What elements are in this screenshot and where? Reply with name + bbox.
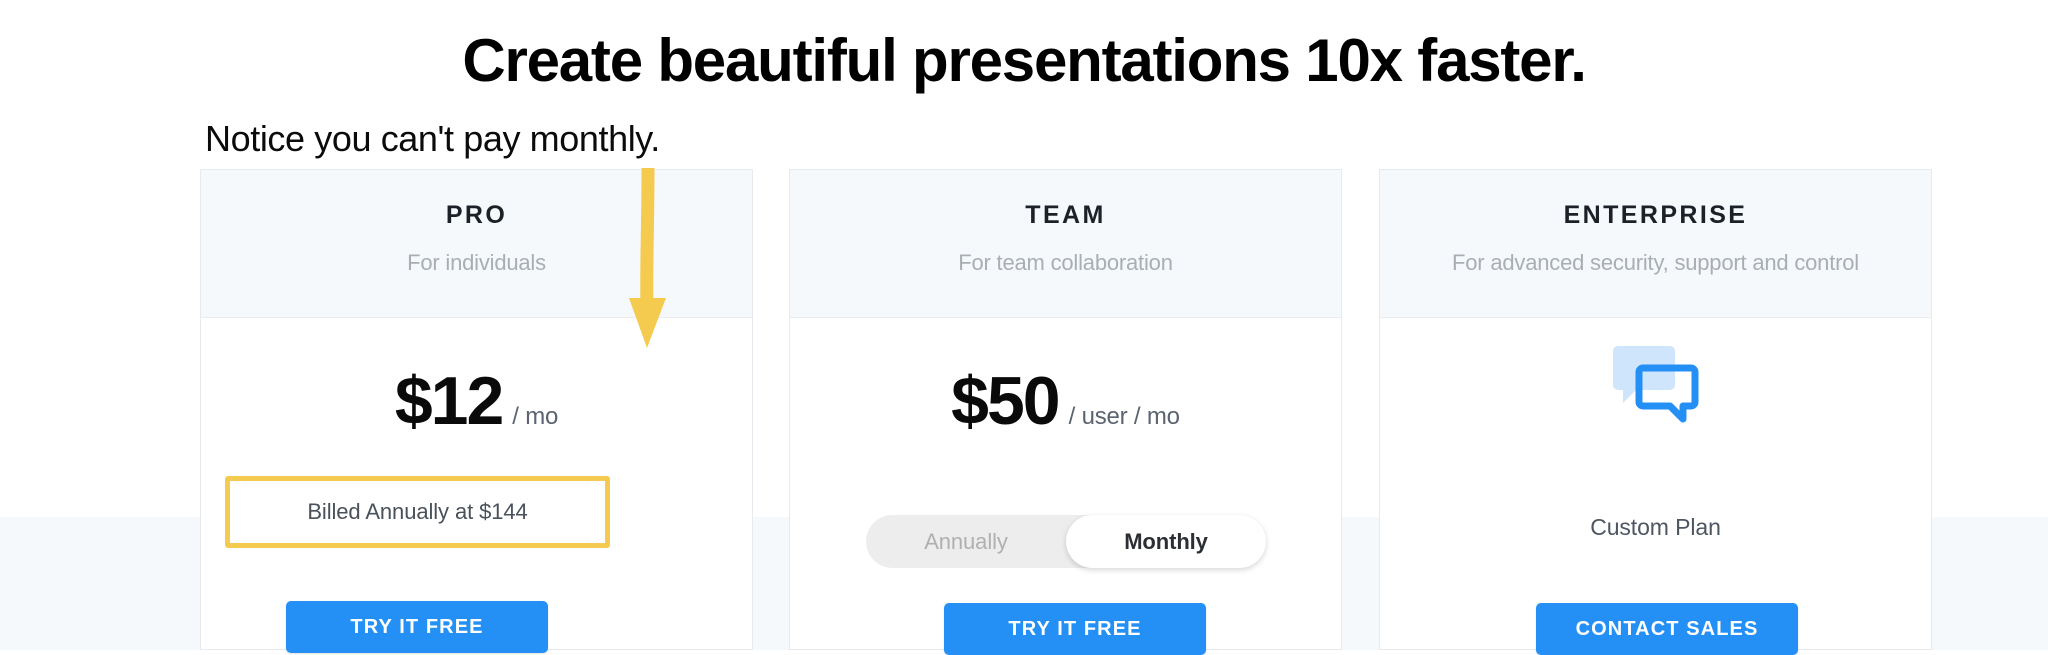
price-amount-pro: $12: [395, 363, 502, 439]
pricing-page: Create beautiful presentations 10x faste…: [0, 0, 2048, 650]
card-body-pro: $12/ mo Billed Annually at $144 TRY IT F…: [201, 318, 752, 650]
card-header-pro: PRO For individuals: [201, 170, 752, 318]
price-unit-team: / user / mo: [1069, 403, 1180, 430]
toggle-option-monthly[interactable]: Monthly: [1066, 515, 1266, 568]
card-body-enterprise: Custom Plan CONTACT SALES: [1380, 318, 1931, 650]
billed-annually-text: Billed Annually at $144: [307, 499, 527, 525]
page-title: Create beautiful presentations 10x faste…: [0, 26, 2048, 96]
billing-period-toggle[interactable]: Annually Monthly: [866, 515, 1266, 568]
plan-title-team: TEAM: [790, 201, 1341, 230]
contact-sales-button[interactable]: CONTACT SALES: [1536, 603, 1798, 655]
card-header-enterprise: ENTERPRISE For advanced security, suppor…: [1380, 170, 1931, 318]
card-body-team: $50/ user / mo Annually Monthly TRY IT F…: [790, 318, 1341, 650]
price-amount-team: $50: [951, 363, 1058, 439]
pricing-card-team[interactable]: TEAM For team collaboration $50/ user / …: [789, 169, 1342, 650]
plan-title-pro: PRO: [201, 201, 752, 230]
toggle-option-annually[interactable]: Annually: [866, 515, 1066, 568]
page-subtitle: Notice you can't pay monthly.: [205, 117, 660, 161]
pricing-card-pro[interactable]: PRO For individuals $12/ mo Billed Annua…: [200, 169, 753, 650]
card-header-team: TEAM For team collaboration: [790, 170, 1341, 318]
plan-subtitle-pro: For individuals: [201, 250, 752, 276]
price-row-pro: $12/ mo: [201, 362, 752, 440]
try-it-free-button-team[interactable]: TRY IT FREE: [944, 603, 1206, 655]
price-unit-pro: / mo: [512, 403, 558, 430]
plan-title-enterprise: ENTERPRISE: [1380, 201, 1931, 230]
price-row-team: $50/ user / mo: [790, 362, 1341, 440]
try-it-free-button-pro[interactable]: TRY IT FREE: [286, 601, 548, 653]
pricing-card-enterprise[interactable]: ENTERPRISE For advanced security, suppor…: [1379, 169, 1932, 650]
plan-subtitle-enterprise: For advanced security, support and contr…: [1380, 250, 1931, 276]
billed-annually-box: Billed Annually at $144: [225, 476, 610, 548]
custom-plan-label: Custom Plan: [1380, 514, 1931, 541]
plan-subtitle-team: For team collaboration: [790, 250, 1341, 276]
pricing-cards: PRO For individuals $12/ mo Billed Annua…: [0, 169, 2048, 650]
chat-bubbles-icon: [1380, 340, 1931, 426]
